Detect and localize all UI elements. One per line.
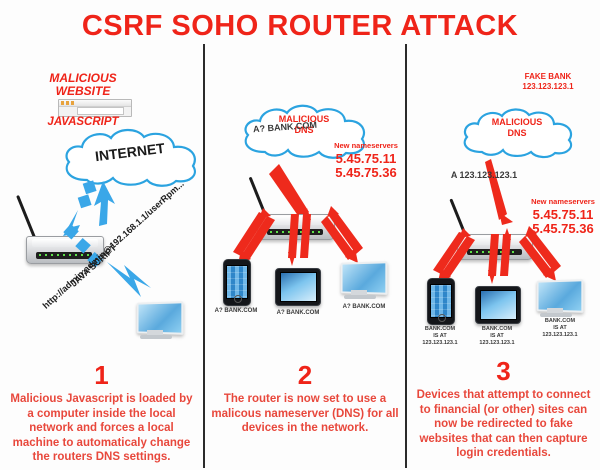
device-monitor-label: A? BANK.COM — [331, 304, 397, 311]
device-tablet — [475, 286, 521, 324]
panel-1: MALICIOUS WEBSITE JAVASCRIPT INTERNET — [0, 44, 203, 470]
monitor-base — [540, 313, 572, 317]
device-phone-label: A? BANK.COM — [205, 308, 267, 315]
panel-2: MALICIOUS DNS A? BANK.COM New nameserver… — [205, 44, 405, 470]
device-tablet-label: A? BANK.COM — [265, 310, 331, 317]
device-monitor-label-line1: BANK.COM — [525, 318, 595, 325]
tablet-screen — [480, 290, 517, 320]
monitor-base — [140, 335, 172, 339]
tablet-screen — [280, 272, 317, 302]
device-monitor-label-line2: IS AT — [525, 325, 595, 332]
device-phone — [223, 259, 251, 306]
phone-home-button — [234, 295, 242, 303]
device-tablet-label-line2: IS AT — [463, 333, 531, 340]
csrf-router-attack-infographic: CSRF SOHO ROUTER ATTACK MALICIOUS WEBSIT… — [0, 0, 600, 470]
panel-3-caption: Devices that attempt to connect to finan… — [407, 388, 600, 461]
phone-screen — [430, 284, 452, 318]
device-monitor — [535, 280, 581, 320]
device-phone — [427, 278, 455, 325]
panel-3: FAKE BANK 123.123.123.1 MALICIOUS DNS A … — [407, 44, 600, 470]
monitor-base — [344, 295, 376, 299]
panel-2-caption: The router is now set to use a malicous … — [205, 392, 405, 436]
device-tablet-label-line1: BANK.COM — [463, 326, 531, 333]
step-number-1: 1 — [0, 360, 203, 391]
page-title: CSRF SOHO ROUTER ATTACK — [0, 10, 600, 43]
step-number-2: 2 — [205, 360, 405, 391]
device-monitor — [339, 262, 385, 302]
victim-computer — [135, 302, 181, 342]
step-number-3: 3 — [407, 356, 600, 387]
device-monitor-label-line3: 123.123.123.1 — [525, 332, 595, 339]
device-tablet — [275, 268, 321, 306]
device-tablet-label-line3: 123.123.123.1 — [463, 340, 531, 347]
phone-home-button — [438, 314, 446, 322]
phone-screen — [226, 265, 248, 299]
panel-1-caption: Malicious Javascript is loaded by a comp… — [0, 392, 203, 465]
